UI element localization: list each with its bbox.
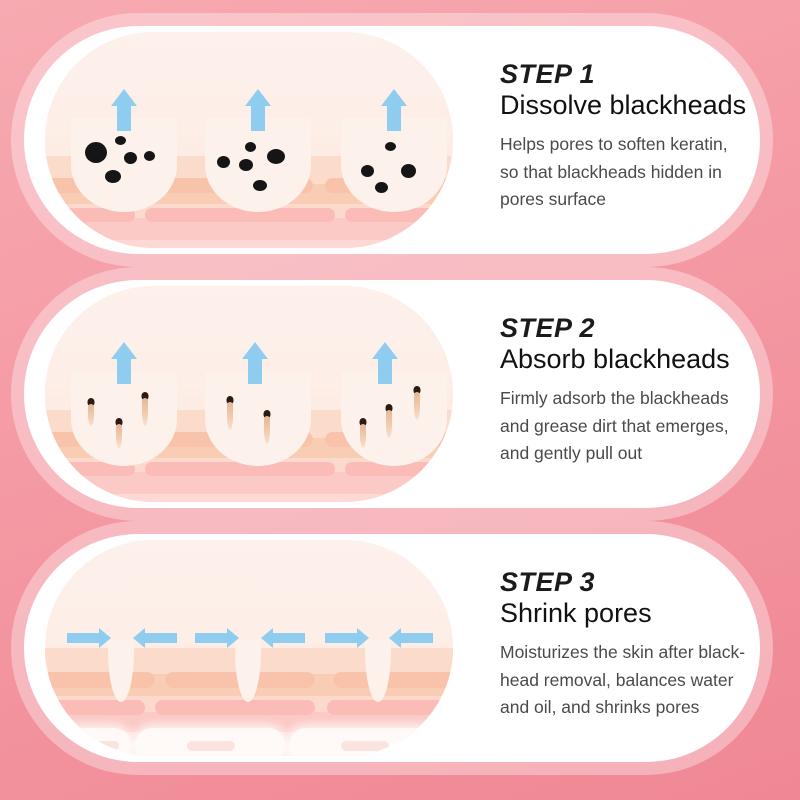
- blackhead-dot: [375, 182, 388, 193]
- step-1-label: STEP 1: [500, 60, 762, 88]
- dermis-cell: [53, 728, 131, 756]
- step-2-body: Firmly adsorb the blackheads and grease …: [500, 385, 762, 467]
- step-3-illustration: [45, 540, 453, 756]
- step-1-text-block: STEP 1 Dissolve blackheads Helps pores t…: [500, 60, 762, 213]
- blackhead-dot: [239, 159, 253, 171]
- step-1-body-line: so that blackheads hidden in: [500, 159, 762, 186]
- arrow-right-icon: [195, 628, 239, 648]
- step-3-body-line: Moisturizes the skin after black-: [500, 639, 762, 666]
- arrow-left-icon: [133, 628, 177, 648]
- step-1-body: Helps pores to soften keratin, so that b…: [500, 131, 762, 213]
- step-3-label: STEP 3: [500, 568, 762, 596]
- blackhead-dot: [115, 136, 126, 145]
- arrow-left-icon: [261, 628, 305, 648]
- striation: [145, 208, 335, 222]
- step-2-body-line: and gently pull out: [500, 440, 762, 467]
- striation: [155, 700, 315, 715]
- step-1-body-line: Helps pores to soften keratin,: [500, 131, 762, 158]
- striation: [145, 462, 335, 476]
- arrow-left-icon: [389, 628, 433, 648]
- step-3-text-block: STEP 3 Shrink pores Moisturizes the skin…: [500, 568, 762, 721]
- step-1-illustration: [45, 32, 453, 248]
- step-3-body-line: and oil, and shrinks pores: [500, 694, 762, 721]
- striation: [45, 700, 145, 715]
- infographic-root: STEP 1 Dissolve blackheads Helps pores t…: [0, 0, 800, 800]
- step-2-body-line: Firmly adsorb the blackheads: [500, 385, 762, 412]
- blackhead-dot: [361, 165, 374, 177]
- blackhead-dot: [385, 142, 396, 151]
- blackhead-dot: [85, 142, 107, 163]
- striation: [45, 672, 155, 688]
- striation: [333, 672, 453, 688]
- step-card-3: STEP 3 Shrink pores Moisturizes the skin…: [24, 534, 760, 762]
- blackhead-dot: [245, 142, 256, 152]
- step-3-body-line: head removal, balances water: [500, 667, 762, 694]
- step-3-title: Shrink pores: [500, 598, 762, 630]
- step-1-title: Dissolve blackheads: [500, 90, 762, 122]
- base-band: [45, 240, 453, 248]
- arrow-right-icon: [325, 628, 369, 648]
- blackhead-dot: [144, 151, 155, 161]
- dermis-cell: [135, 728, 285, 756]
- arrow-right-icon: [67, 628, 111, 648]
- base-band: [45, 494, 453, 502]
- dermis-cell: [289, 728, 439, 756]
- step-card-1: STEP 1 Dissolve blackheads Helps pores t…: [24, 26, 760, 254]
- blackhead-dot: [124, 152, 137, 164]
- blackhead-dot: [267, 149, 285, 164]
- pore-neck: [341, 372, 447, 420]
- blackhead-dot: [217, 156, 230, 168]
- step-card-2: STEP 2 Absorb blackheads Firmly adsorb t…: [24, 280, 760, 508]
- blackhead-dot: [253, 180, 267, 191]
- step-3-body: Moisturizes the skin after black- head r…: [500, 639, 762, 721]
- blackhead-dot: [401, 164, 416, 178]
- step-2-illustration: [45, 286, 453, 502]
- step-2-body-line: and grease dirt that emerges,: [500, 413, 762, 440]
- striation: [327, 700, 453, 715]
- step-2-title: Absorb blackheads: [500, 344, 762, 376]
- step-2-label: STEP 2: [500, 314, 762, 342]
- blackhead-dot: [105, 170, 121, 183]
- step-1-body-line: pores surface: [500, 186, 762, 213]
- step-2-text-block: STEP 2 Absorb blackheads Firmly adsorb t…: [500, 314, 762, 467]
